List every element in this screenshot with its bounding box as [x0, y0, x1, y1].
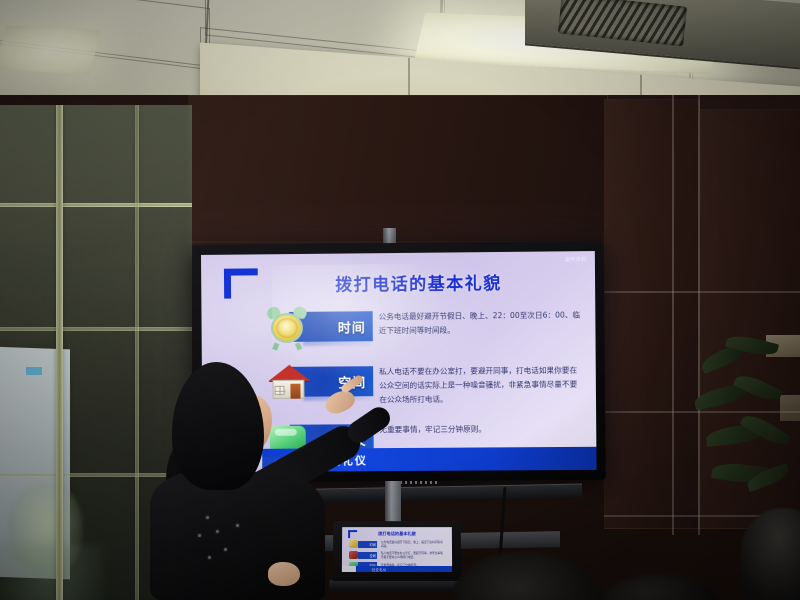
presenter-other-hand [268, 562, 300, 586]
laptop-lid: 拨打电话的基本礼貌 时间 公务电话最好避开节假日、晚上、临近下班时间等时间段。 … [333, 521, 461, 581]
laptop-footer-label: 社交礼仪 [372, 566, 387, 571]
laptop-badge-space: 空间 [358, 552, 377, 559]
laptop-footer-tab [342, 566, 356, 572]
slide-title: 拨打电话的基本礼貌 [201, 268, 595, 297]
laptop-badge-label: 空间 [370, 553, 376, 558]
laptop-keyboard-base[interactable] [328, 580, 465, 591]
tv-ports [395, 481, 439, 484]
whiteboard-sticker [26, 367, 42, 375]
slide-row-text: 私人电话不要在办公室打，要避开同事，打电话如果你要在公众空间的话实际上是一种噪音… [373, 361, 584, 408]
laptop-slide-title: 拨打电话的基本礼貌 [342, 531, 452, 537]
presenter-hand [322, 386, 358, 417]
ceiling-light-secondary [0, 25, 101, 74]
laptop-badge-label: 时间 [370, 542, 376, 547]
slide-row-text: 公务电话最好避开节假日、晚上、22：00至次日6：00、临近下班时间等时间段。 [373, 305, 584, 338]
laptop-house-icon [349, 551, 358, 559]
person-reflection-body [0, 545, 104, 600]
badge-label: 时间 [338, 317, 366, 336]
laptop-screen: 拨打电话的基本礼貌 时间 公务电话最好避开节假日、晚上、临近下班时间等时间段。 … [342, 527, 452, 572]
slide-row: 时间 公务电话最好避开节假日、晚上、22：00至次日6：00、临近下班时间等时间… [263, 305, 584, 350]
slide-row-text: 无重要事情，牢记三分钟原则。 [373, 419, 584, 437]
presenter-woman [150, 362, 360, 600]
laptop-badge-time: 时间 [358, 541, 377, 548]
photo-scene: 课件资料 拨打电话的基本礼貌 时间 [0, 0, 800, 600]
presenter-hair [172, 362, 264, 490]
laptop-slide-footer: 社交礼仪 [356, 566, 452, 572]
presenter-jacket [150, 472, 325, 600]
presenter-laptop[interactable]: 拨打电话的基本礼貌 时间 公务电话最好避开节假日、晚上、临近下班时间等时间段。 … [333, 521, 461, 591]
laptop-alarm-clock-icon [349, 540, 358, 548]
laptop-row-text: 私人电话不要在办公室打，要避开同事，非紧急事情尽量不要在公众场所打电话。 [381, 551, 443, 559]
laptop-row-text: 公务电话最好避开节假日、晚上、临近下班时间等时间段。 [381, 540, 443, 548]
slide-watermark: 课件资料 [565, 256, 587, 263]
alarm-clock-icon [265, 305, 311, 351]
